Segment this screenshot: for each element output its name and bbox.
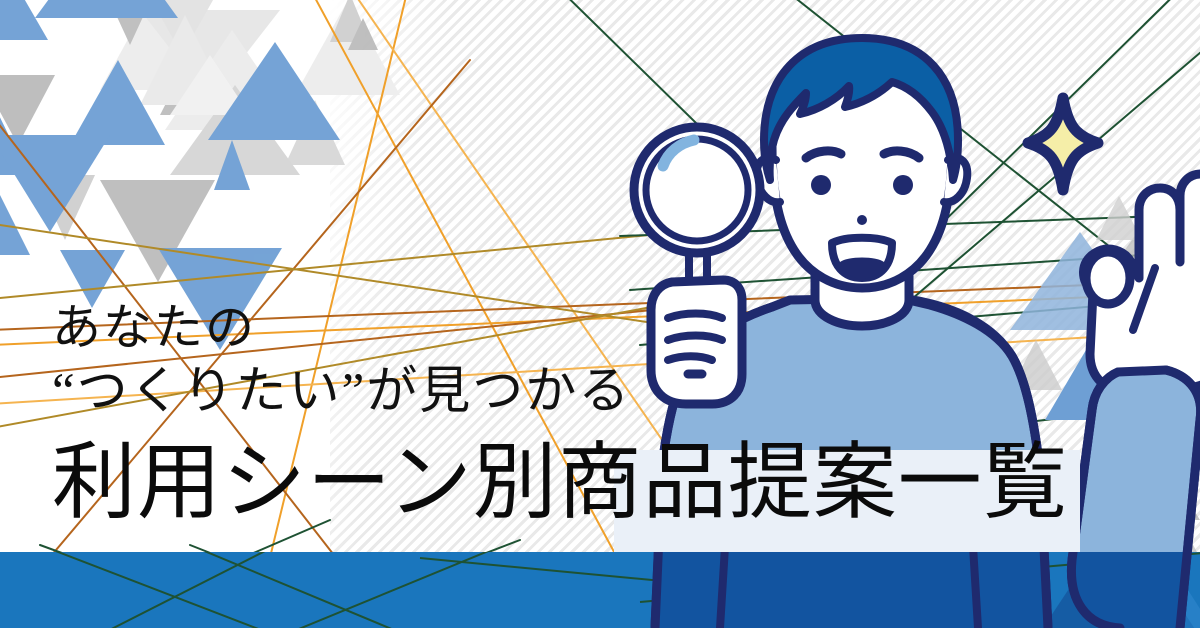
subtitle-line-1: あなたの [52, 296, 1092, 360]
copy-block: あなたの “つくりたい”が見つかる 利用シーン別商品提案一覧 [52, 296, 1092, 530]
subtitle-line-2: “つくりたい”が見つかる [52, 360, 1092, 424]
banner-hero: あなたの “つくりたい”が見つかる 利用シーン別商品提案一覧 [0, 0, 1200, 628]
page-title: 利用シーン別商品提案一覧 [52, 438, 1092, 530]
